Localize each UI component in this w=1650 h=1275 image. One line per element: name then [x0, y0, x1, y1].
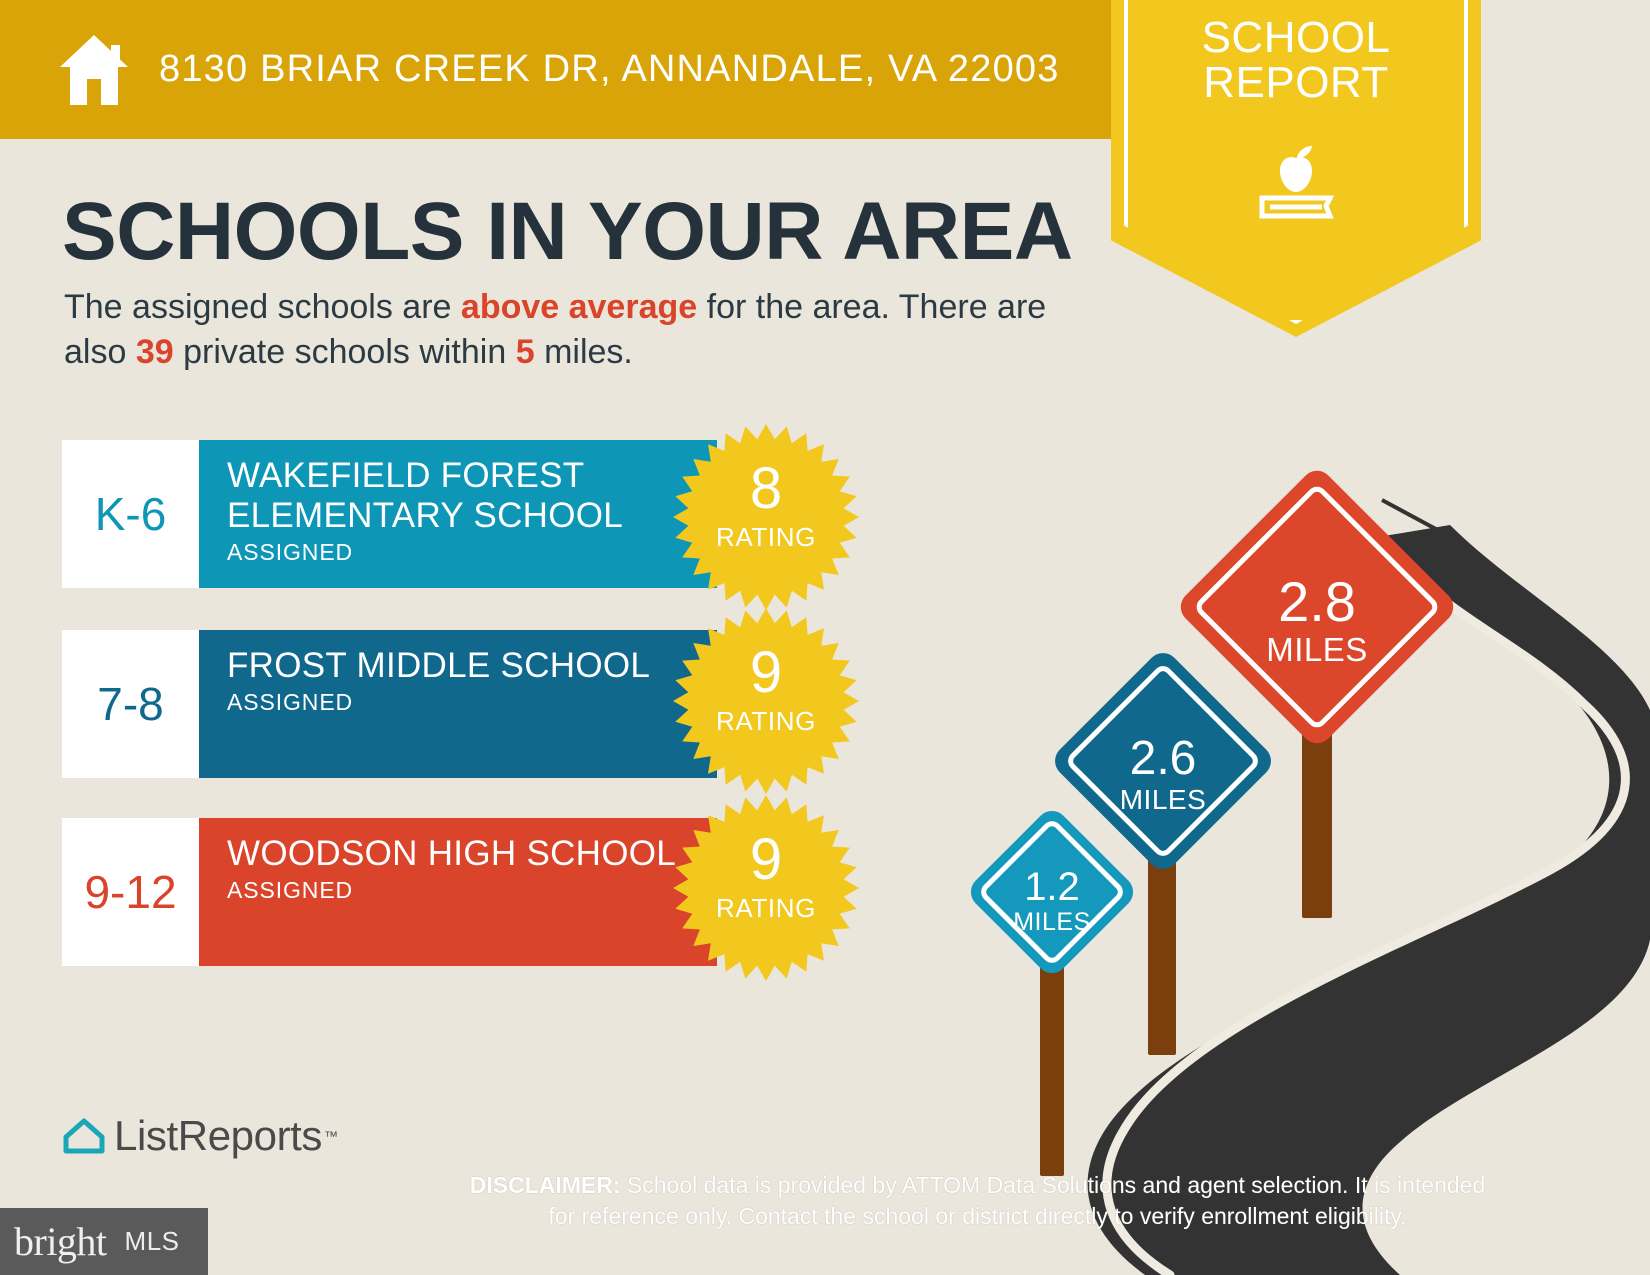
header-address: 8130 BRIAR CREEK DR, ANNANDALE, VA 22003 — [159, 48, 1060, 91]
school-report-badge: SCHOOL REPORT — [1111, 0, 1481, 337]
school-name-bar: FROST MIDDLE SCHOOL ASSIGNED — [199, 630, 717, 778]
rating-label: RATING — [673, 706, 859, 737]
school-status: ASSIGNED — [227, 689, 717, 716]
apple-on-book-icon — [1244, 142, 1348, 234]
grade-range-label: 9-12 — [84, 865, 176, 919]
rating-starburst: 9 RATING — [673, 608, 859, 794]
badge-title: SCHOOL REPORT — [1111, 16, 1481, 106]
school-row[interactable]: 9-12 WOODSON HIGH SCHOOL ASSIGNED — [62, 818, 717, 966]
subtitle: The assigned schools are above average f… — [64, 285, 1104, 375]
subtitle-part3: private schools within — [174, 333, 516, 371]
grade-range-box: 7-8 — [62, 630, 199, 778]
disclaimer-label: DISCLAIMER: — [470, 1172, 621, 1198]
page-title: SCHOOLS IN YOUR AREA — [62, 185, 1073, 279]
header-bar: 8130 BRIAR CREEK DR, ANNANDALE, VA 22003 — [0, 0, 1143, 139]
sign-post — [1040, 940, 1064, 1176]
school-row[interactable]: K-6 WAKEFIELD FOREST ELEMENTARY SCHOOL A… — [62, 440, 717, 588]
sign-unit: MILES — [972, 910, 1132, 935]
bright-wordmark: bright — [14, 1218, 107, 1265]
sign-text-group: 2.6 MILES — [1060, 735, 1266, 814]
bright-mls-logo[interactable]: bright MLS — [0, 1208, 208, 1275]
subtitle-part1: The assigned schools are — [64, 288, 461, 326]
school-status: ASSIGNED — [227, 539, 717, 566]
sign-text-group: 2.8 MILES — [1194, 574, 1440, 666]
subtitle-highlight-count: 39 — [136, 333, 174, 371]
sign-distance: 1.2 — [972, 867, 1132, 907]
rating-value: 9 — [673, 831, 859, 889]
rating-label: RATING — [673, 522, 859, 553]
subtitle-highlight-rating: above average — [461, 288, 697, 326]
rating-label: RATING — [673, 893, 859, 924]
sign-distance: 2.8 — [1194, 574, 1440, 630]
rating-value: 9 — [673, 644, 859, 702]
listreports-house-icon — [62, 1116, 106, 1156]
subtitle-part4: miles. — [535, 333, 633, 371]
disclaimer-text: School data is provided by ATTOM Data So… — [548, 1172, 1485, 1229]
home-icon — [55, 33, 133, 107]
school-name: WOODSON HIGH SCHOOL — [227, 834, 717, 874]
sign-unit: MILES — [1194, 633, 1440, 666]
grade-range-box: 9-12 — [62, 818, 199, 966]
subtitle-highlight-radius: 5 — [516, 333, 535, 371]
road-illustration: 1.2 MILES 2.6 MILES 2.8 MILES — [930, 470, 1650, 1275]
listreports-logo[interactable]: ListReports ™ — [62, 1112, 338, 1160]
listreports-trademark: ™ — [324, 1128, 338, 1144]
school-row[interactable]: 7-8 FROST MIDDLE SCHOOL ASSIGNED — [62, 630, 717, 778]
sign-text-group: 1.2 MILES — [972, 867, 1132, 935]
school-name: WAKEFIELD FOREST ELEMENTARY SCHOOL — [227, 456, 717, 536]
grade-range-label: 7-8 — [97, 677, 163, 731]
mls-wordmark: MLS — [125, 1226, 180, 1257]
badge-title-line1: SCHOOL — [1111, 16, 1481, 61]
grade-range-label: K-6 — [95, 487, 167, 541]
rating-starburst: 8 RATING — [673, 424, 859, 610]
rating-starburst: 9 RATING — [673, 795, 859, 981]
school-status: ASSIGNED — [227, 877, 717, 904]
sign-unit: MILES — [1060, 786, 1266, 814]
sign-distance: 2.6 — [1060, 735, 1266, 783]
rating-value: 8 — [673, 460, 859, 518]
disclaimer: DISCLAIMER: School data is provided by A… — [455, 1170, 1500, 1232]
school-name: FROST MIDDLE SCHOOL — [227, 646, 717, 686]
school-name-bar: WOODSON HIGH SCHOOL ASSIGNED — [199, 818, 717, 966]
listreports-wordmark: ListReports — [114, 1112, 322, 1160]
badge-title-line2: REPORT — [1111, 61, 1481, 106]
grade-range-box: K-6 — [62, 440, 199, 588]
school-name-bar: WAKEFIELD FOREST ELEMENTARY SCHOOL ASSIG… — [199, 440, 717, 588]
